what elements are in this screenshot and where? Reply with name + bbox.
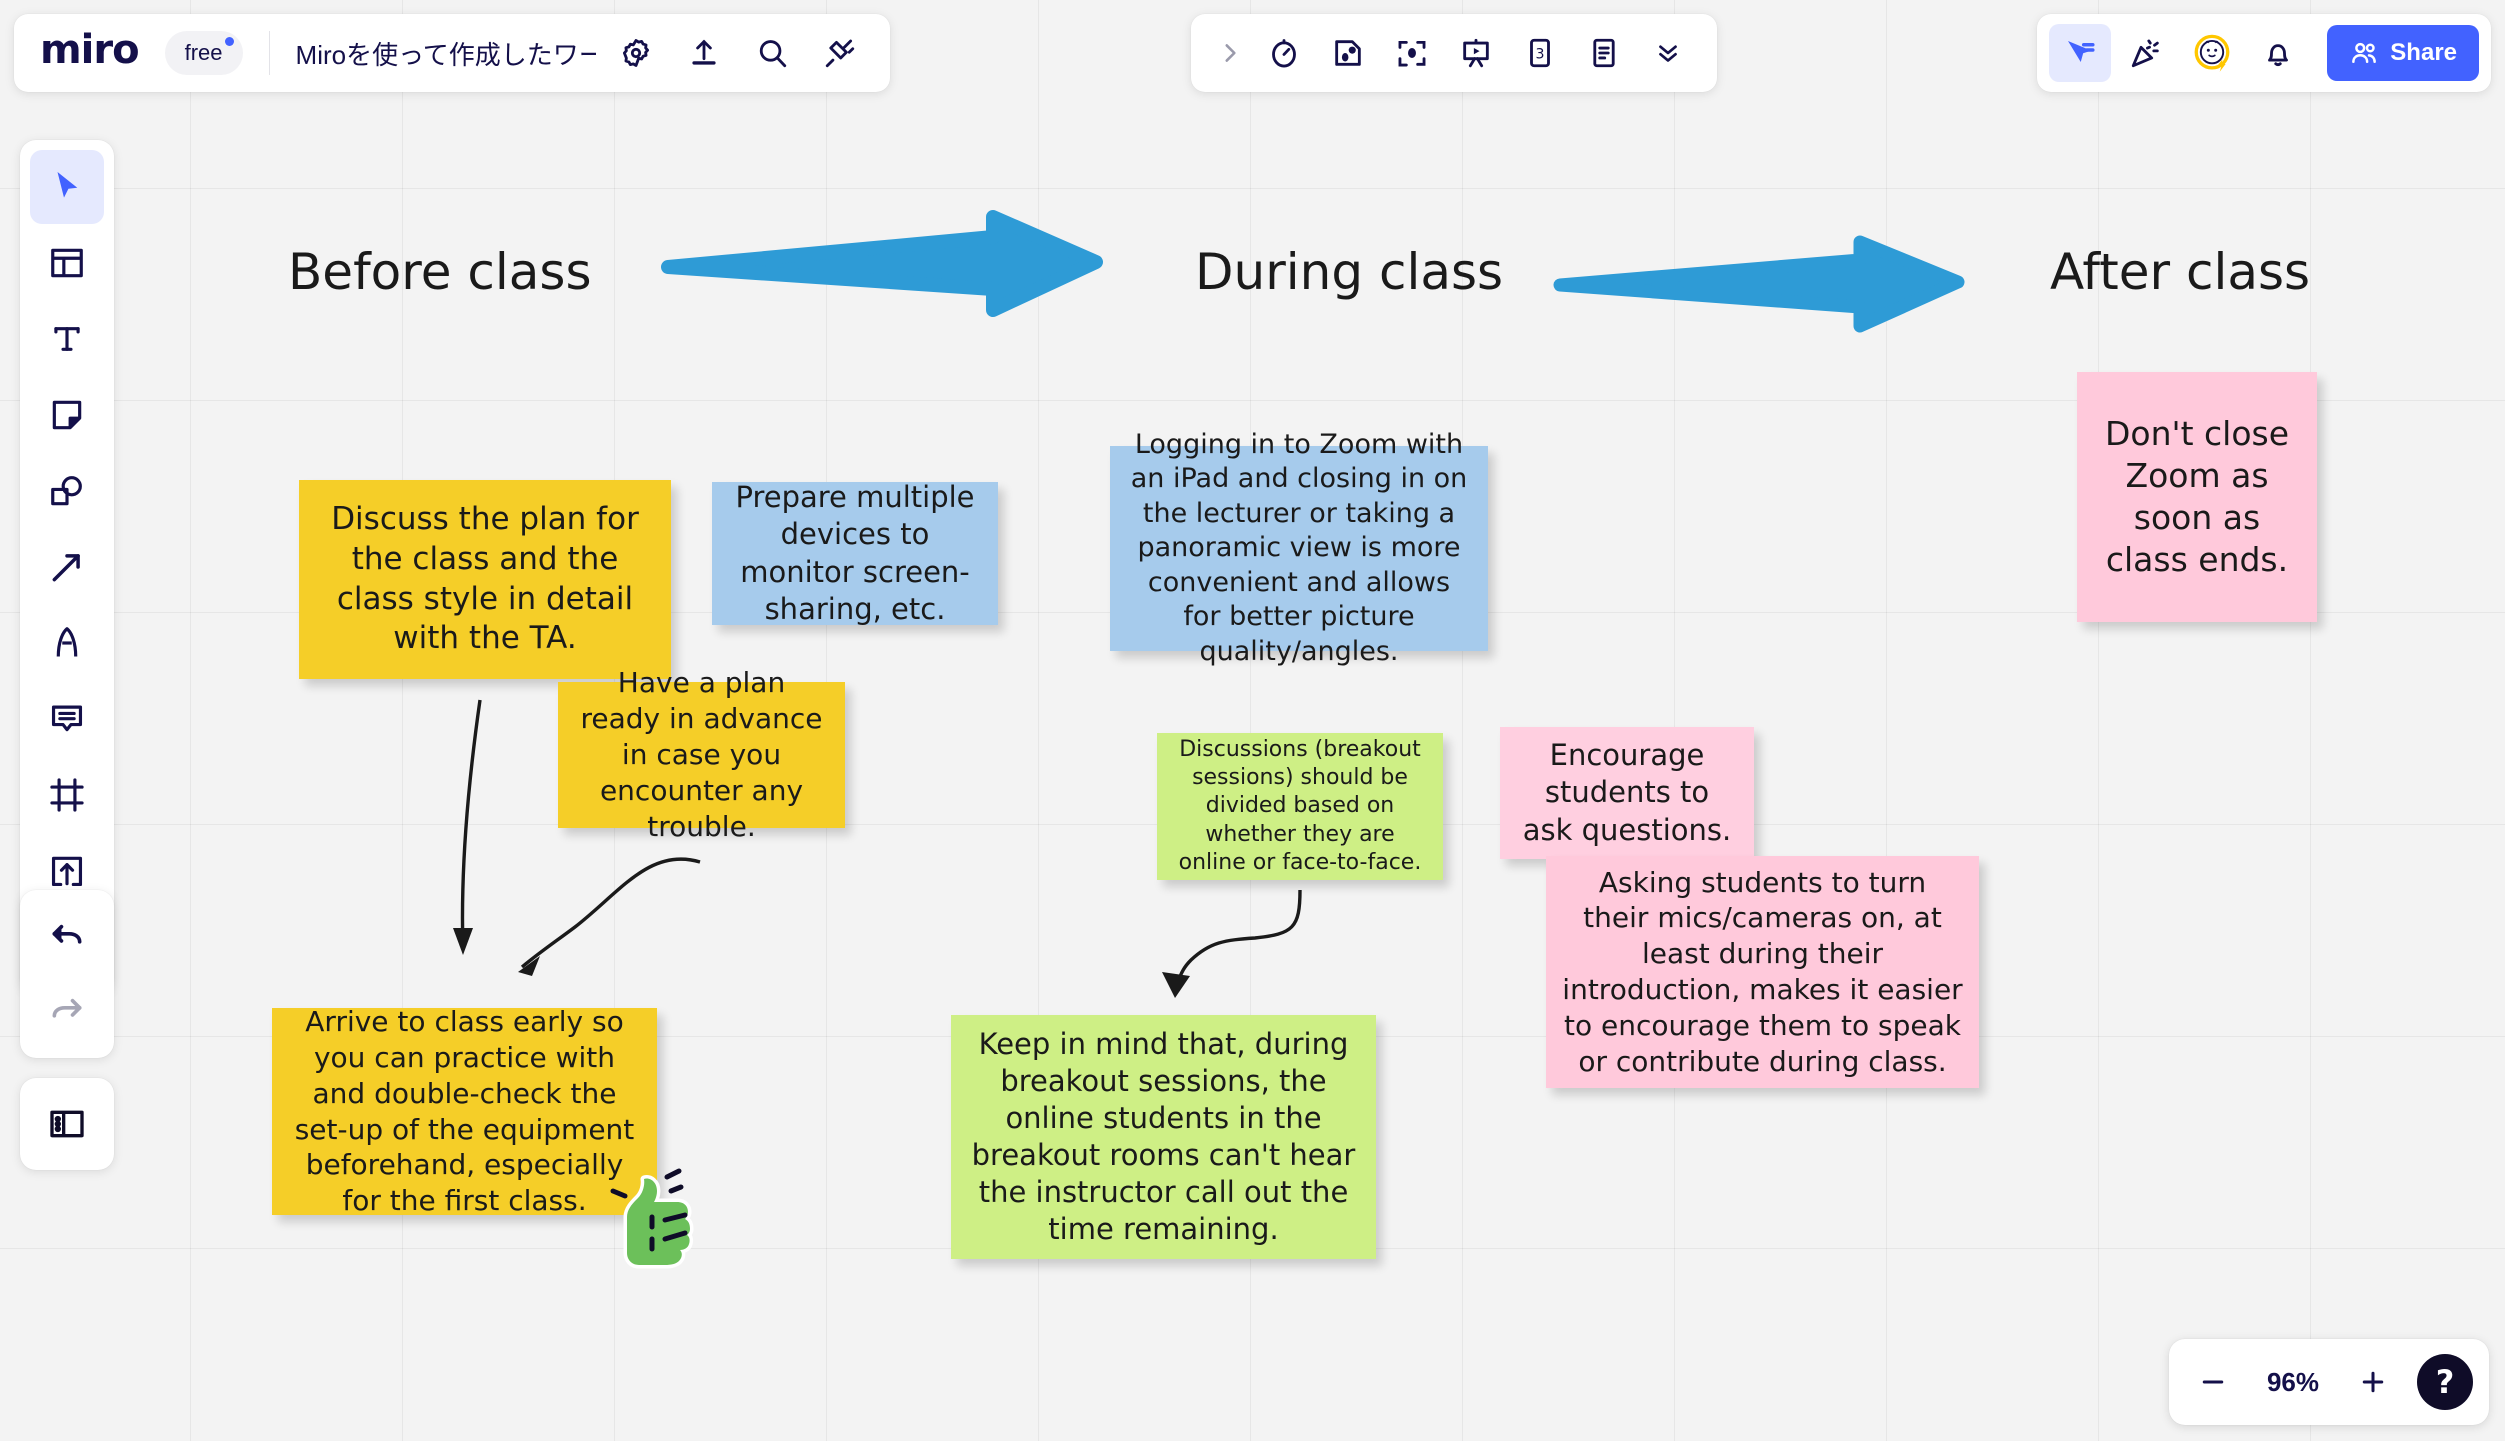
presentation-icon[interactable] bbox=[1445, 24, 1507, 82]
top-left-toolbar: miro free Miroを使って作成したワー... bbox=[14, 14, 890, 92]
help-label: ? bbox=[2436, 1363, 2455, 1401]
note-text: Asking students to turn their mics/camer… bbox=[1562, 865, 1963, 1080]
undo-redo-group bbox=[20, 890, 114, 1058]
search-icon[interactable] bbox=[744, 25, 800, 81]
zoom-level[interactable]: 96% bbox=[2247, 1367, 2339, 1398]
text-tool[interactable] bbox=[30, 302, 104, 376]
note-mics-cameras-on[interactable]: Asking students to turn their mics/camer… bbox=[1546, 856, 1979, 1088]
connector-discuss-to-arrive bbox=[455, 700, 575, 1000]
column-title-during-class: During class bbox=[1195, 243, 1503, 301]
apps-icon[interactable] bbox=[812, 25, 868, 81]
divider bbox=[269, 31, 270, 75]
plan-badge-dot bbox=[225, 37, 234, 46]
note-text: Arrive to class early so you can practic… bbox=[288, 1004, 641, 1219]
help-button[interactable]: ? bbox=[2417, 1354, 2473, 1410]
note-text: Don't close Zoom as soon as class ends. bbox=[2093, 413, 2301, 582]
settings-icon[interactable] bbox=[608, 25, 664, 81]
avatar-icon[interactable] bbox=[2181, 24, 2243, 82]
chevron-right-icon[interactable] bbox=[1209, 24, 1251, 82]
celebrate-icon[interactable] bbox=[2115, 24, 2177, 82]
zoom-out-button[interactable] bbox=[2185, 1354, 2241, 1410]
svg-text:3: 3 bbox=[1535, 47, 1544, 63]
column-title-after-class: After class bbox=[2050, 243, 2310, 301]
notes-icon[interactable] bbox=[1573, 24, 1635, 82]
note-have-plan-ready[interactable]: Have a plan ready in advance in case you… bbox=[558, 682, 845, 828]
note-dont-close-zoom[interactable]: Don't close Zoom as soon as class ends. bbox=[2077, 372, 2317, 622]
share-label: Share bbox=[2390, 39, 2457, 67]
select-tool[interactable] bbox=[30, 150, 104, 224]
note-discuss-plan[interactable]: Discuss the plan for the class and the c… bbox=[299, 480, 671, 679]
chevron-double-down-icon[interactable] bbox=[1637, 24, 1699, 82]
pen-tool[interactable] bbox=[30, 606, 104, 680]
voting-icon[interactable] bbox=[1317, 24, 1379, 82]
shapes-tool[interactable] bbox=[30, 454, 104, 528]
connector-haveplan-to-arrive bbox=[500, 852, 720, 1002]
frame-tool[interactable] bbox=[30, 758, 104, 832]
plan-badge-label: free bbox=[185, 40, 223, 65]
focus-mode-icon[interactable] bbox=[1381, 24, 1443, 82]
panel-toggle-button[interactable] bbox=[20, 1078, 114, 1170]
note-text: Encourage students to ask questions. bbox=[1516, 737, 1738, 848]
upload-icon[interactable] bbox=[676, 25, 732, 81]
board-canvas[interactable]: Before class During class After class Di… bbox=[0, 0, 2505, 1441]
sticky-note-tool[interactable] bbox=[30, 378, 104, 452]
note-text: Discussions (breakout sessions) should b… bbox=[1173, 736, 1427, 877]
note-arrive-early[interactable]: Arrive to class early so you can practic… bbox=[272, 1008, 657, 1215]
arrow-before-to-during[interactable] bbox=[668, 215, 1098, 315]
comment-tool[interactable] bbox=[30, 682, 104, 756]
connector-breakout-to-keepinmind bbox=[1145, 890, 1335, 1020]
note-text: Prepare multiple devices to monitor scre… bbox=[728, 479, 982, 627]
note-text: Discuss the plan for the class and the c… bbox=[315, 500, 655, 659]
top-center-toolbar: 3 bbox=[1191, 14, 1717, 92]
plan-badge[interactable]: free bbox=[165, 31, 243, 75]
redo-button[interactable] bbox=[30, 974, 104, 1048]
board-title[interactable]: Miroを使って作成したワー... bbox=[296, 35, 596, 72]
miro-logo[interactable]: miro bbox=[40, 30, 139, 76]
templates-tool[interactable] bbox=[30, 226, 104, 300]
note-text: Logging in to Zoom with an iPad and clos… bbox=[1126, 428, 1472, 670]
note-encourage-questions[interactable]: Encourage students to ask questions. bbox=[1500, 727, 1754, 859]
note-keep-in-mind-breakout[interactable]: Keep in mind that, during breakout sessi… bbox=[951, 1015, 1376, 1259]
zoom-controls: 96% ? bbox=[2169, 1339, 2489, 1425]
undo-button[interactable] bbox=[30, 900, 104, 974]
zoom-in-button[interactable] bbox=[2345, 1354, 2401, 1410]
bell-icon[interactable] bbox=[2247, 24, 2309, 82]
arrow-during-to-after[interactable] bbox=[1560, 240, 1960, 330]
share-button[interactable]: Share bbox=[2327, 25, 2479, 81]
timer-icon[interactable] bbox=[1253, 24, 1315, 82]
connector-tool[interactable] bbox=[30, 530, 104, 604]
note-text: Have a plan ready in advance in case you… bbox=[574, 665, 829, 844]
card-3-icon[interactable]: 3 bbox=[1509, 24, 1571, 82]
top-right-toolbar: Share bbox=[2037, 14, 2491, 92]
left-toolbar bbox=[20, 140, 114, 994]
note-logging-in-zoom[interactable]: Logging in to Zoom with an iPad and clos… bbox=[1110, 446, 1488, 651]
cursor-chat-icon[interactable] bbox=[2049, 24, 2111, 82]
column-title-before-class: Before class bbox=[288, 243, 592, 301]
note-text: Keep in mind that, during breakout sessi… bbox=[967, 1026, 1360, 1249]
note-prepare-devices[interactable]: Prepare multiple devices to monitor scre… bbox=[712, 482, 998, 625]
note-breakout-discussions[interactable]: Discussions (breakout sessions) should b… bbox=[1157, 733, 1443, 880]
